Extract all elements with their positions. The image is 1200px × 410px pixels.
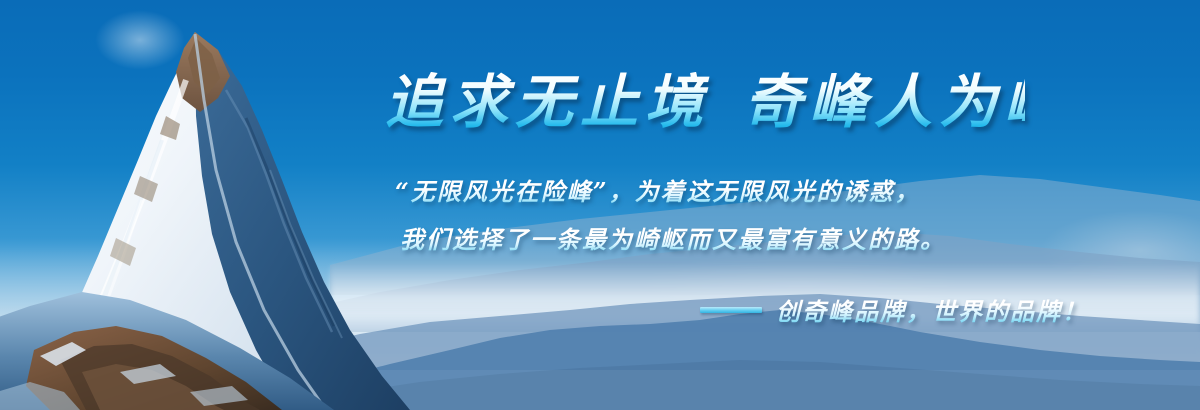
subtitle-line-1: “无限风光在险峰”，为着这无限风光的诱惑，	[395, 176, 1015, 208]
em-dash-rule	[700, 307, 762, 313]
headline-part-2: 奇峰人为峰	[744, 68, 1069, 136]
headline-part-1: 追求无止境	[385, 68, 710, 136]
hero-banner: 追求无止境奇峰人为峰 “无限风光在险峰”，为着这无限风光的诱惑， 我们选择了一条…	[0, 0, 1200, 410]
signoff: 创奇峰品牌，世界的品牌！	[700, 292, 1088, 327]
signoff-text: 创奇峰品牌，世界的品牌！	[776, 292, 1088, 327]
subtitle-line-2: 我们选择了一条最为崎岖而又最富有意义的路。	[400, 224, 1020, 256]
headline: 追求无止境奇峰人为峰	[385, 72, 1025, 133]
